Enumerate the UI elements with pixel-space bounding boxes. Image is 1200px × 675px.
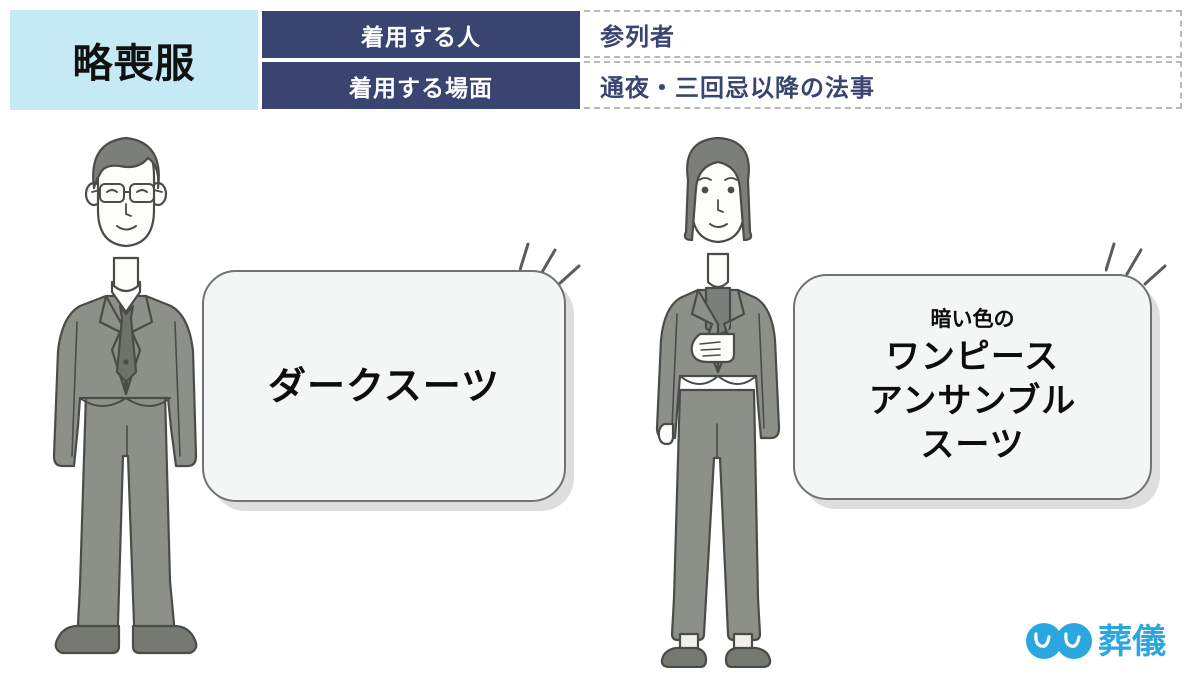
callout-womens-attire-line3: スーツ	[920, 423, 1024, 467]
row-label-wearer-text: 着用する人	[361, 18, 481, 52]
page-title: 略喪服	[73, 31, 196, 89]
row-label-occasion: 着用する場面	[262, 62, 580, 109]
callout-womens-attire-line2: アンサンブル	[869, 379, 1077, 423]
callout-womens-attire-line1: ワンピース	[886, 335, 1059, 379]
row-value-wearer-text: 参列者	[584, 17, 675, 52]
header-table: 略喪服 着用する人 着用する場面 参列者 通夜・三回忌以降の法事	[0, 0, 1200, 115]
logo-text: 葬儀	[1098, 622, 1166, 660]
row-value-occasion-text: 通夜・三回忌以降の法事	[584, 68, 875, 103]
page-title-block: 略喪服	[10, 10, 258, 110]
callout-dark-suit-line1: ダークスーツ	[268, 364, 500, 409]
man-illustration	[28, 126, 228, 666]
callout-womens-attire: 暗い色の ワンピース アンサンブル スーツ	[793, 274, 1152, 500]
callout-dark-suit: ダークスーツ	[202, 270, 566, 502]
row-value-occasion: 通夜・三回忌以降の法事	[584, 61, 1182, 109]
infographic-canvas: 略喪服 着用する人 着用する場面 参列者 通夜・三回忌以降の法事	[0, 0, 1200, 675]
row-label-occasion-text: 着用する場面	[349, 69, 493, 103]
callout-womens-attire-prefix: 暗い色の	[931, 307, 1015, 332]
logo-mark-icon	[1026, 623, 1092, 659]
woman-illustration	[628, 128, 808, 668]
row-label-wearer: 着用する人	[262, 11, 580, 58]
row-value-wearer: 参列者	[584, 10, 1182, 58]
brand-logo: 葬儀	[1022, 620, 1188, 660]
